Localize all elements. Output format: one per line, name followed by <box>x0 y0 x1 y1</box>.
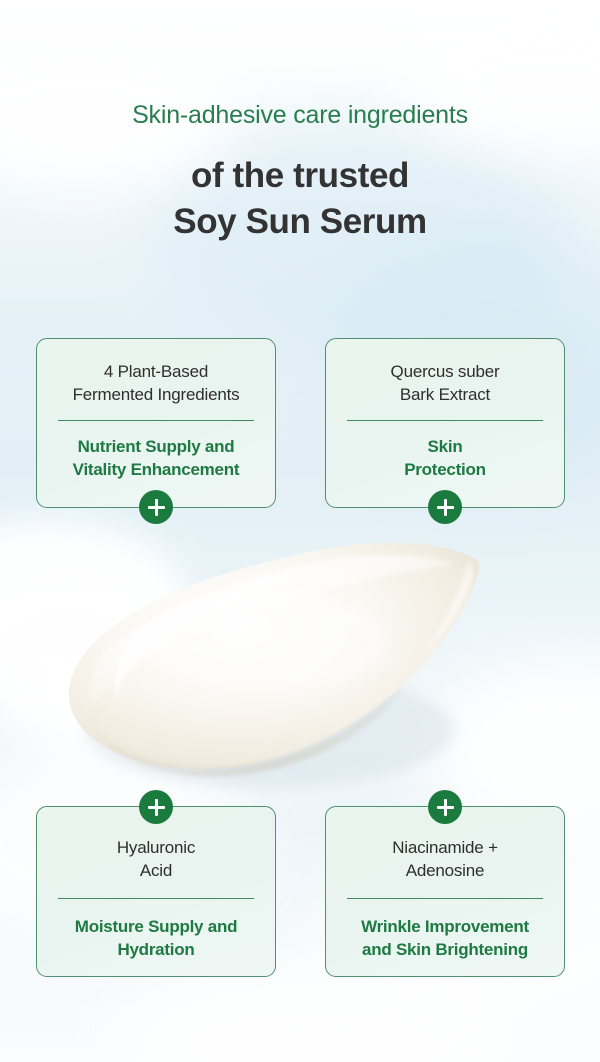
card-title-line-1: Niacinamide + <box>326 837 564 860</box>
cream-swatch <box>0 520 600 810</box>
card-benefit-line-2: and Skin Brightening <box>326 939 564 962</box>
card-title: Quercus suber Bark Extract <box>326 339 564 406</box>
card-benefit-line-2: Hydration <box>37 939 275 962</box>
cloud-mid-left <box>0 520 190 690</box>
card-benefit-line-1: Wrinkle Improvement <box>326 916 564 939</box>
card-benefit-line-2: Vitality Enhancement <box>37 459 275 482</box>
card-benefit-line-1: Moisture Supply and <box>37 916 275 939</box>
heading-kicker: Skin-adhesive care ingredients <box>0 100 600 131</box>
page-heading: Skin-adhesive care ingredients of the tr… <box>0 100 600 246</box>
card-benefit: Wrinkle Improvement and Skin Brightening <box>326 899 564 961</box>
card-title-line-2: Acid <box>37 860 275 883</box>
ingredient-card-quercus-suber[interactable]: Quercus suber Bark Extract Skin Protecti… <box>325 338 565 508</box>
cloud-mid-left-3 <box>10 620 210 780</box>
plus-icon[interactable] <box>139 790 173 824</box>
card-title-line-2: Adenosine <box>326 860 564 883</box>
heading-line-1: of the trusted <box>0 153 600 199</box>
plus-icon[interactable] <box>139 490 173 524</box>
card-title-line-1: 4 Plant-Based <box>37 361 275 384</box>
heading-line-2: Soy Sun Serum <box>0 199 600 245</box>
card-benefit: Moisture Supply and Hydration <box>37 899 275 961</box>
card-title-line-1: Hyaluronic <box>37 837 275 860</box>
card-benefit-line-1: Skin <box>326 436 564 459</box>
card-title: 4 Plant-Based Fermented Ingredients <box>37 339 275 406</box>
plus-icon[interactable] <box>428 490 462 524</box>
card-title-line-2: Fermented Ingredients <box>37 384 275 407</box>
card-benefit: Nutrient Supply and Vitality Enhancement <box>37 421 275 481</box>
card-title-line-2: Bark Extract <box>326 384 564 407</box>
ingredient-card-niacinamide-adenosine[interactable]: Niacinamide + Adenosine Wrinkle Improvem… <box>325 806 565 977</box>
ingredient-card-hyaluronic-acid[interactable]: Hyaluronic Acid Moisture Supply and Hydr… <box>36 806 276 977</box>
ingredient-card-plant-based[interactable]: 4 Plant-Based Fermented Ingredients Nutr… <box>36 338 276 508</box>
infographic-page: Skin-adhesive care ingredients of the tr… <box>0 0 600 1062</box>
heading-main: of the trusted Soy Sun Serum <box>0 153 600 245</box>
card-benefit-line-1: Nutrient Supply and <box>37 436 275 459</box>
card-benefit: Skin Protection <box>326 421 564 481</box>
card-benefit-line-2: Protection <box>326 459 564 482</box>
plus-icon[interactable] <box>428 790 462 824</box>
card-title-line-1: Quercus suber <box>326 361 564 384</box>
cloud-mid-left-2 <box>0 575 180 725</box>
